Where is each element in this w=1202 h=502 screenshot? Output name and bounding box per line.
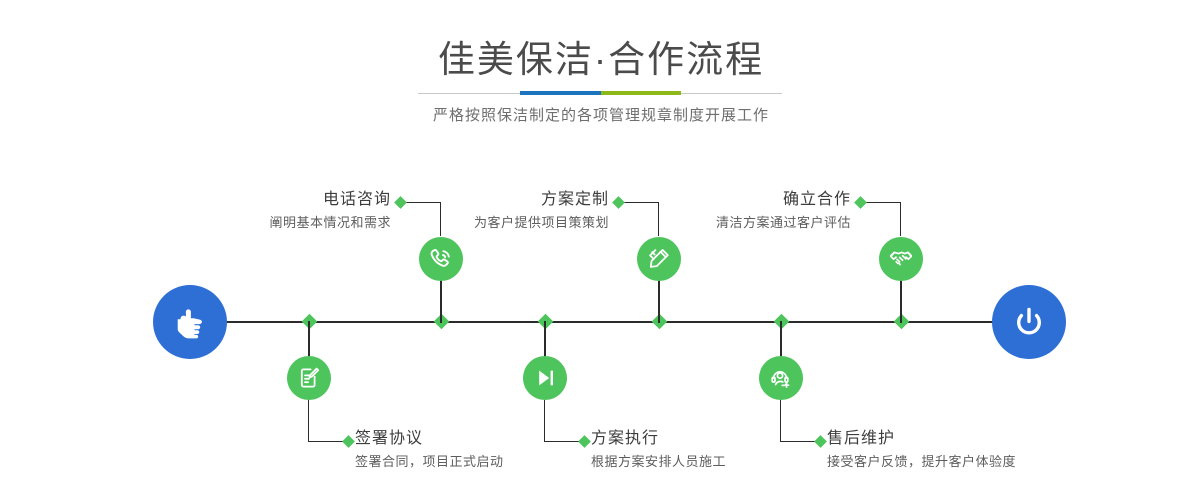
step-label-2: 签署协议 签署合同，项目正式启动: [355, 428, 585, 472]
hand-pointing-icon: [170, 302, 210, 342]
stem-step-3: [658, 278, 660, 323]
step-node-3[interactable]: [637, 237, 681, 281]
step-title-3: 方案定制: [420, 189, 609, 211]
step-desc-3: 为客户提供项目策策划: [420, 213, 609, 233]
stem-step-2: [308, 321, 310, 359]
step-title-5: 确立合作: [660, 189, 851, 211]
label-marker-step-5: [854, 196, 867, 209]
step-label-5: 确立合作 清洁方案通过客户评估: [660, 189, 851, 233]
step-label-3: 方案定制 为客户提供项目策策划: [420, 189, 609, 233]
step-title-6: 售后维护: [827, 428, 1097, 450]
step-label-4: 方案执行 根据方案安排人员施工: [591, 428, 821, 472]
step-desc-2: 签署合同，项目正式启动: [355, 452, 585, 472]
header: 佳美保洁·合作流程 严格按照保洁制定的各项管理规章制度开展工作: [0, 0, 1202, 82]
label-marker-step-2: [342, 435, 355, 448]
step-title-4: 方案执行: [591, 428, 821, 450]
step-title-2: 签署协议: [355, 428, 585, 450]
power-icon: [1009, 302, 1049, 342]
page-title: 佳美保洁·合作流程: [0, 38, 1202, 82]
stem-step-4: [544, 321, 546, 359]
step-label-1: 电话咨询 阐明基本情况和需求: [200, 189, 391, 233]
step-label-6: 售后维护 接受客户反馈，提升客户体验度: [827, 428, 1097, 472]
process-flow-infographic: 佳美保洁·合作流程 严格按照保洁制定的各项管理规章制度开展工作: [0, 0, 1202, 502]
connector-vertical-step-6: [780, 400, 781, 441]
step-node-1[interactable]: [419, 237, 463, 281]
stem-step-6: [780, 321, 782, 359]
step-title-1: 电话咨询: [200, 189, 391, 211]
label-marker-step-3: [612, 196, 625, 209]
stem-step-5: [900, 278, 902, 323]
timeline-start-node[interactable]: [153, 285, 227, 359]
pencil-ruler-icon: [646, 246, 672, 272]
step-node-2[interactable]: [287, 356, 331, 400]
step-desc-4: 根据方案安排人员施工: [591, 452, 821, 472]
title-divider-green-segment: [601, 91, 681, 95]
customer-service-icon: [768, 365, 794, 391]
step-node-5[interactable]: [879, 237, 923, 281]
phone-call-icon: [428, 246, 454, 272]
connector-vertical-step-4: [544, 400, 545, 441]
page-subtitle: 严格按照保洁制定的各项管理规章制度开展工作: [0, 105, 1202, 127]
step-desc-6: 接受客户反馈，提升客户体验度: [827, 452, 1097, 472]
connector-vertical-step-5: [900, 202, 901, 236]
step-node-6[interactable]: [759, 356, 803, 400]
timeline-end-node[interactable]: [992, 285, 1066, 359]
stem-step-1: [440, 278, 442, 323]
label-marker-step-1: [394, 196, 407, 209]
connector-vertical-step-3: [658, 202, 659, 236]
step-desc-1: 阐明基本情况和需求: [200, 213, 391, 233]
title-divider-blue-segment: [520, 91, 601, 95]
document-pencil-icon: [296, 365, 322, 391]
connector-vertical-step-2: [308, 400, 309, 441]
play-skip-icon: [532, 365, 558, 391]
step-node-4[interactable]: [523, 356, 567, 400]
step-desc-5: 清洁方案通过客户评估: [660, 213, 851, 233]
handshake-icon: [888, 246, 914, 272]
